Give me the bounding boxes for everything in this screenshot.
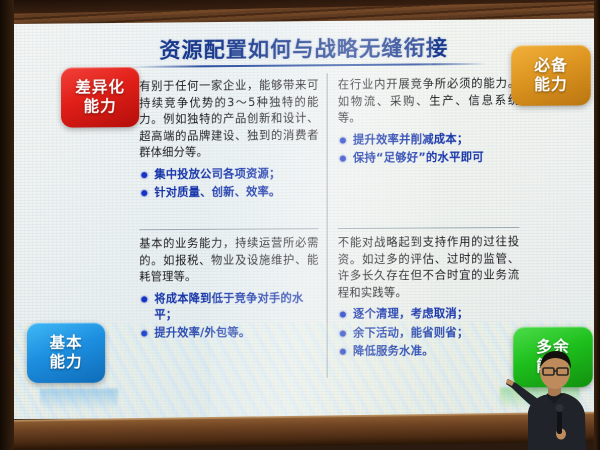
list-item: 提升效率并削减成本；	[338, 131, 520, 149]
quadrant-basic-bullets: 将成本降到低于竞争对手的水平； 提升效率/外包等。	[139, 290, 318, 342]
quadrant-differentiating-bullets: 集中投放公司各项资源； 针对质量、创新、效率。	[139, 166, 318, 202]
badge-differentiating-line1: 差异化	[75, 78, 125, 97]
quadrant-essential-paragraph: 在行业内开展竞争所必须的能力。如物流、采购、生产、信息系统等。	[338, 76, 520, 128]
quadrant-basic-paragraph: 基本的业务能力，持续运营所必需的。如报税、物业及设施维护、能耗管理等。	[139, 235, 318, 286]
wall-pillar-left	[0, 0, 14, 450]
badge-essential-line2: 能力	[534, 75, 568, 94]
badge-differentiating-line2: 能力	[84, 97, 117, 116]
quadrant-basic: 基本的业务能力，持续运营所必需的。如报税、物业及设施维护、能耗管理等。 将成本降…	[139, 229, 318, 342]
quadrant-grid: 有别于任何一家企业，能够带来可持续竞争优势的3～5种独特的能力。例如独特的产品创…	[129, 72, 527, 379]
badge-essential: 必备 能力	[511, 45, 590, 106]
presenter	[506, 338, 598, 450]
quadrant-differentiating: 有别于任何一家企业，能够带来可持续竞争优势的3～5种独特的能力。例如独特的产品创…	[139, 77, 318, 230]
quadrant-surplus-bullets: 逐个清理，考虑取消； 余下活动，能省则省； 降低服务水准。	[338, 306, 520, 360]
badge-basic-line1: 基本	[50, 334, 83, 353]
microphone-head	[556, 404, 564, 412]
column-left: 有别于任何一家企业，能够带来可持续竞争优势的3～5种独特的能力。例如独特的产品创…	[129, 73, 327, 378]
list-item: 余下活动，能省则省；	[338, 324, 520, 341]
quadrant-essential: 在行业内开展竞争所必须的能力。如物流、采购、生产、信息系统等。 提升效率并削减成…	[338, 76, 520, 229]
column-right: 在行业内开展竞争所必须的能力。如物流、采购、生产、信息系统等。 提升效率并削减成…	[328, 72, 528, 378]
badge-basic: 基本 能力	[27, 323, 105, 383]
list-item: 保持“足够好”的水平即可	[338, 149, 520, 167]
list-item: 集中投放公司各项资源；	[139, 166, 318, 184]
photo-frame: 资源配置如何与战略无缝衔接 有别于任何一家企业，能够带来可持续竞争优势的3～5种…	[0, 0, 600, 450]
list-item: 逐个清理，考虑取消；	[338, 306, 520, 323]
list-item: 针对质量、创新、效率。	[139, 184, 318, 202]
badge-differentiating: 差异化 能力	[61, 67, 139, 128]
badge-basic-reflection	[40, 389, 118, 411]
list-item: 提升效率/外包等。	[139, 325, 318, 342]
quadrant-surplus: 不能对战略起到支持作用的过往投资。如过多的评估、过时的监管、许多长久存在但不合时…	[338, 228, 520, 360]
list-item: 降低服务水准。	[338, 343, 520, 360]
quadrant-differentiating-paragraph: 有别于任何一家企业，能够带来可持续竞争优势的3～5种独特的能力。例如独特的产品创…	[139, 77, 318, 162]
list-item: 将成本降到低于竞争对手的水平；	[139, 290, 318, 324]
quadrant-essential-bullets: 提升效率并削减成本； 保持“足够好”的水平即可	[338, 131, 520, 167]
badge-basic-line2: 能力	[50, 353, 83, 372]
quadrant-surplus-paragraph: 不能对战略起到支持作用的过往投资。如过多的评估、过时的监管、许多长久存在但不合时…	[338, 234, 520, 302]
badge-essential-line1: 必备	[534, 56, 568, 75]
page-title: 资源配置如何与战略无缝衔接	[13, 31, 597, 66]
